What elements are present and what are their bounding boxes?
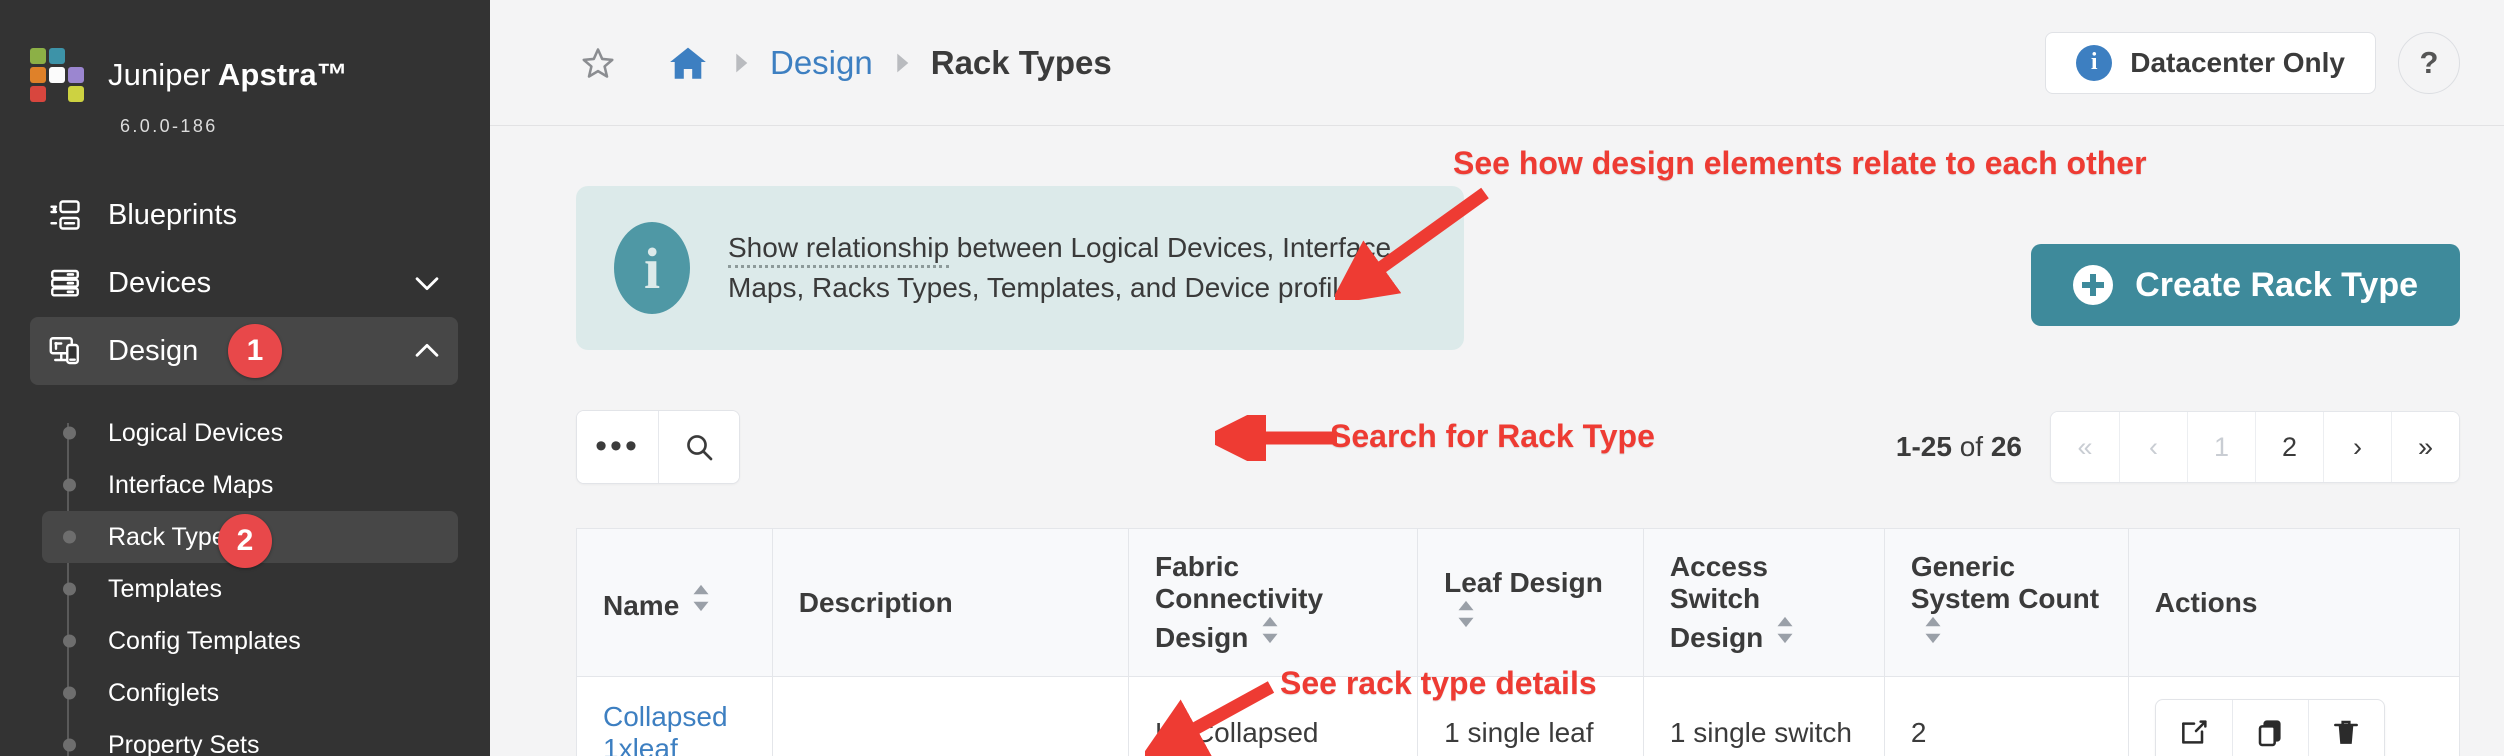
cell-access-switch-design: 1 single switch [1643, 677, 1884, 756]
column-header-access-switch-design[interactable]: Access Switch Design [1643, 529, 1884, 677]
sidebar-item-property-sets[interactable]: Property Sets [42, 719, 458, 756]
copy-icon[interactable] [2232, 700, 2308, 756]
bullet-icon [63, 479, 76, 492]
pagination-first-button[interactable]: « [2051, 412, 2119, 482]
help-button[interactable]: ? [2398, 32, 2460, 94]
pagination-range: 1-25 [1896, 431, 1952, 462]
sidebar-item-devices[interactable]: Devices [30, 249, 458, 317]
breadcrumb-separator-icon [893, 52, 911, 74]
favorite-star-icon[interactable] [576, 41, 620, 85]
sidebar-subitem-label: Config Templates [108, 627, 301, 656]
sidebar-item-design[interactable]: Design 1 [30, 317, 458, 385]
column-label: Fabric Connectivity Design [1155, 551, 1323, 653]
home-icon[interactable] [664, 39, 712, 87]
column-header-fabric-connectivity-design[interactable]: Fabric Connectivity Design [1129, 529, 1418, 677]
table-row: Collapsed 1xleaf L3 Collapsed 1 single l… [577, 677, 2460, 756]
column-header-leaf-design[interactable]: Leaf Design [1418, 529, 1644, 677]
sidebar-item-label: Devices [108, 267, 211, 300]
column-header-name[interactable]: Name [577, 529, 773, 677]
column-header-generic-system-count[interactable]: Generic System Count [1884, 529, 2128, 677]
breadcrumb-link-design[interactable]: Design [770, 44, 873, 82]
column-label: Name [603, 590, 679, 621]
pagination-next-button[interactable]: › [2323, 412, 2391, 482]
sidebar-subitem-label: Logical Devices [108, 419, 283, 448]
bullet-icon [63, 583, 76, 596]
brand-title-bold: Apstra™ [210, 57, 347, 92]
juniper-apstra-logo-icon [30, 48, 84, 102]
search-icon [683, 431, 715, 463]
sidebar-item-label: Design [108, 335, 198, 368]
topbar-actions: i Datacenter Only ? [2045, 32, 2460, 94]
breadcrumb: Design Rack Types [576, 39, 1112, 87]
bullet-icon [63, 687, 76, 700]
row-action-group [2155, 699, 2385, 756]
column-header-actions: Actions [2128, 529, 2459, 677]
bullet-icon [63, 635, 76, 648]
blueprints-icon [44, 194, 86, 236]
column-label: Actions [2155, 587, 2258, 618]
cell-name: Collapsed 1xleaf [577, 677, 773, 756]
sidebar-item-configlets[interactable]: Configlets [42, 667, 458, 719]
table-toolbar: ••• 1-25 of 26 « ‹ 1 2 › » [576, 410, 2460, 484]
design-icon [44, 330, 86, 372]
pagination-page-1[interactable]: 1 [2187, 412, 2255, 482]
sidebar-design-step-badge: 1 [228, 324, 282, 378]
sort-icon[interactable] [1260, 615, 1280, 652]
sidebar-item-label: Blueprints [108, 199, 237, 232]
column-label: Leaf Design [1444, 567, 1603, 598]
pagination-of: of [1960, 431, 1983, 462]
pagination-count: 1-25 of 26 [1896, 431, 2022, 463]
pagination-last-button[interactable]: » [2391, 412, 2459, 482]
design-subnav: Logical Devices Interface Maps Rack Type… [0, 407, 490, 756]
page-title: Rack Types [931, 44, 1112, 82]
datacenter-only-pill[interactable]: i Datacenter Only [2045, 32, 2376, 94]
brand-block: Juniper Apstra™ 6.0.0-186 [0, 0, 490, 137]
chevron-up-icon[interactable] [410, 334, 444, 368]
column-label: Description [799, 587, 953, 618]
sidebar-item-blueprints[interactable]: Blueprints [30, 181, 458, 249]
sidebar-subitem-label: Templates [108, 575, 222, 604]
sort-icon[interactable] [1456, 599, 1476, 636]
content-area: i Show relationship between Logical Devi… [490, 126, 2504, 756]
sort-icon[interactable] [1775, 615, 1795, 652]
cell-fabric-connectivity-design: L3 Collapsed [1129, 677, 1418, 756]
app-root: Juniper Apstra™ 6.0.0-186 Blueprints [0, 0, 2504, 756]
banner-text: Show relationship between Logical Device… [728, 228, 1434, 308]
devices-icon [44, 262, 86, 304]
show-relationship-link[interactable]: Show relationship [728, 232, 949, 268]
info-circle-icon: i [2076, 45, 2112, 81]
toolbar-button-group: ••• [576, 410, 740, 484]
brand-title-thin: Juniper [108, 57, 210, 92]
sidebar: Juniper Apstra™ 6.0.0-186 Blueprints [0, 0, 490, 756]
edit-icon[interactable] [2156, 700, 2232, 756]
sidebar-item-logical-devices[interactable]: Logical Devices [42, 407, 458, 459]
delete-icon[interactable] [2308, 700, 2384, 756]
sidebar-subitem-label: Property Sets [108, 731, 259, 756]
pagination-total: 26 [1991, 431, 2022, 462]
sidebar-item-interface-maps[interactable]: Interface Maps [42, 459, 458, 511]
bullet-icon [63, 739, 76, 752]
info-circle-icon: i [614, 222, 690, 314]
create-rack-type-label: Create Rack Type [2135, 266, 2418, 305]
cell-generic-system-count: 2 [1884, 677, 2128, 756]
column-header-description: Description [772, 529, 1128, 677]
sidebar-rack-types-step-badge: 2 [218, 514, 272, 568]
sort-icon[interactable] [1923, 615, 1943, 652]
sort-icon[interactable] [691, 583, 711, 620]
datacenter-only-label: Datacenter Only [2130, 47, 2345, 79]
table-header-row: Name Description Fabric Connectivity Des… [577, 529, 2460, 677]
bullet-icon [63, 427, 76, 440]
plus-circle-icon [2073, 265, 2113, 305]
more-options-button[interactable]: ••• [577, 411, 658, 483]
sidebar-subitem-label: Interface Maps [108, 471, 273, 500]
main-area: Design Rack Types i Datacenter Only ? i … [490, 0, 2504, 756]
pagination-page-2[interactable]: 2 [2255, 412, 2323, 482]
column-label: Generic System Count [1911, 551, 2099, 614]
rack-type-link[interactable]: Collapsed 1xleaf [603, 701, 728, 756]
search-button[interactable] [658, 411, 739, 483]
cell-actions [2128, 677, 2459, 756]
pagination-controls: « ‹ 1 2 › » [2050, 411, 2460, 483]
brand-title: Juniper Apstra™ [108, 57, 348, 93]
primary-nav: Blueprints Devices [0, 181, 490, 385]
create-rack-type-button[interactable]: Create Rack Type [2031, 244, 2460, 326]
pagination-prev-button[interactable]: ‹ [2119, 412, 2187, 482]
sidebar-subitem-label: Configlets [108, 679, 219, 708]
banner-row: i Show relationship between Logical Devi… [576, 126, 2460, 350]
cell-description [772, 677, 1128, 756]
pagination: 1-25 of 26 « ‹ 1 2 › » [1896, 411, 2460, 483]
sidebar-item-templates[interactable]: Templates [42, 563, 458, 615]
breadcrumb-separator-icon [732, 52, 750, 74]
ellipsis-icon: ••• [595, 440, 640, 454]
version-label: 6.0.0-186 [0, 116, 490, 137]
sidebar-item-config-templates[interactable]: Config Templates [42, 615, 458, 667]
topbar: Design Rack Types i Datacenter Only ? [490, 0, 2504, 126]
chevron-down-icon[interactable] [410, 266, 444, 300]
column-label: Access Switch Design [1670, 551, 1768, 653]
rack-types-table: Name Description Fabric Connectivity Des… [576, 528, 2460, 756]
sidebar-item-rack-types[interactable]: Rack Types 2 [42, 511, 458, 563]
bullet-icon [63, 531, 76, 544]
cell-leaf-design: 1 single leaf [1418, 677, 1644, 756]
info-banner: i Show relationship between Logical Devi… [576, 186, 1464, 350]
